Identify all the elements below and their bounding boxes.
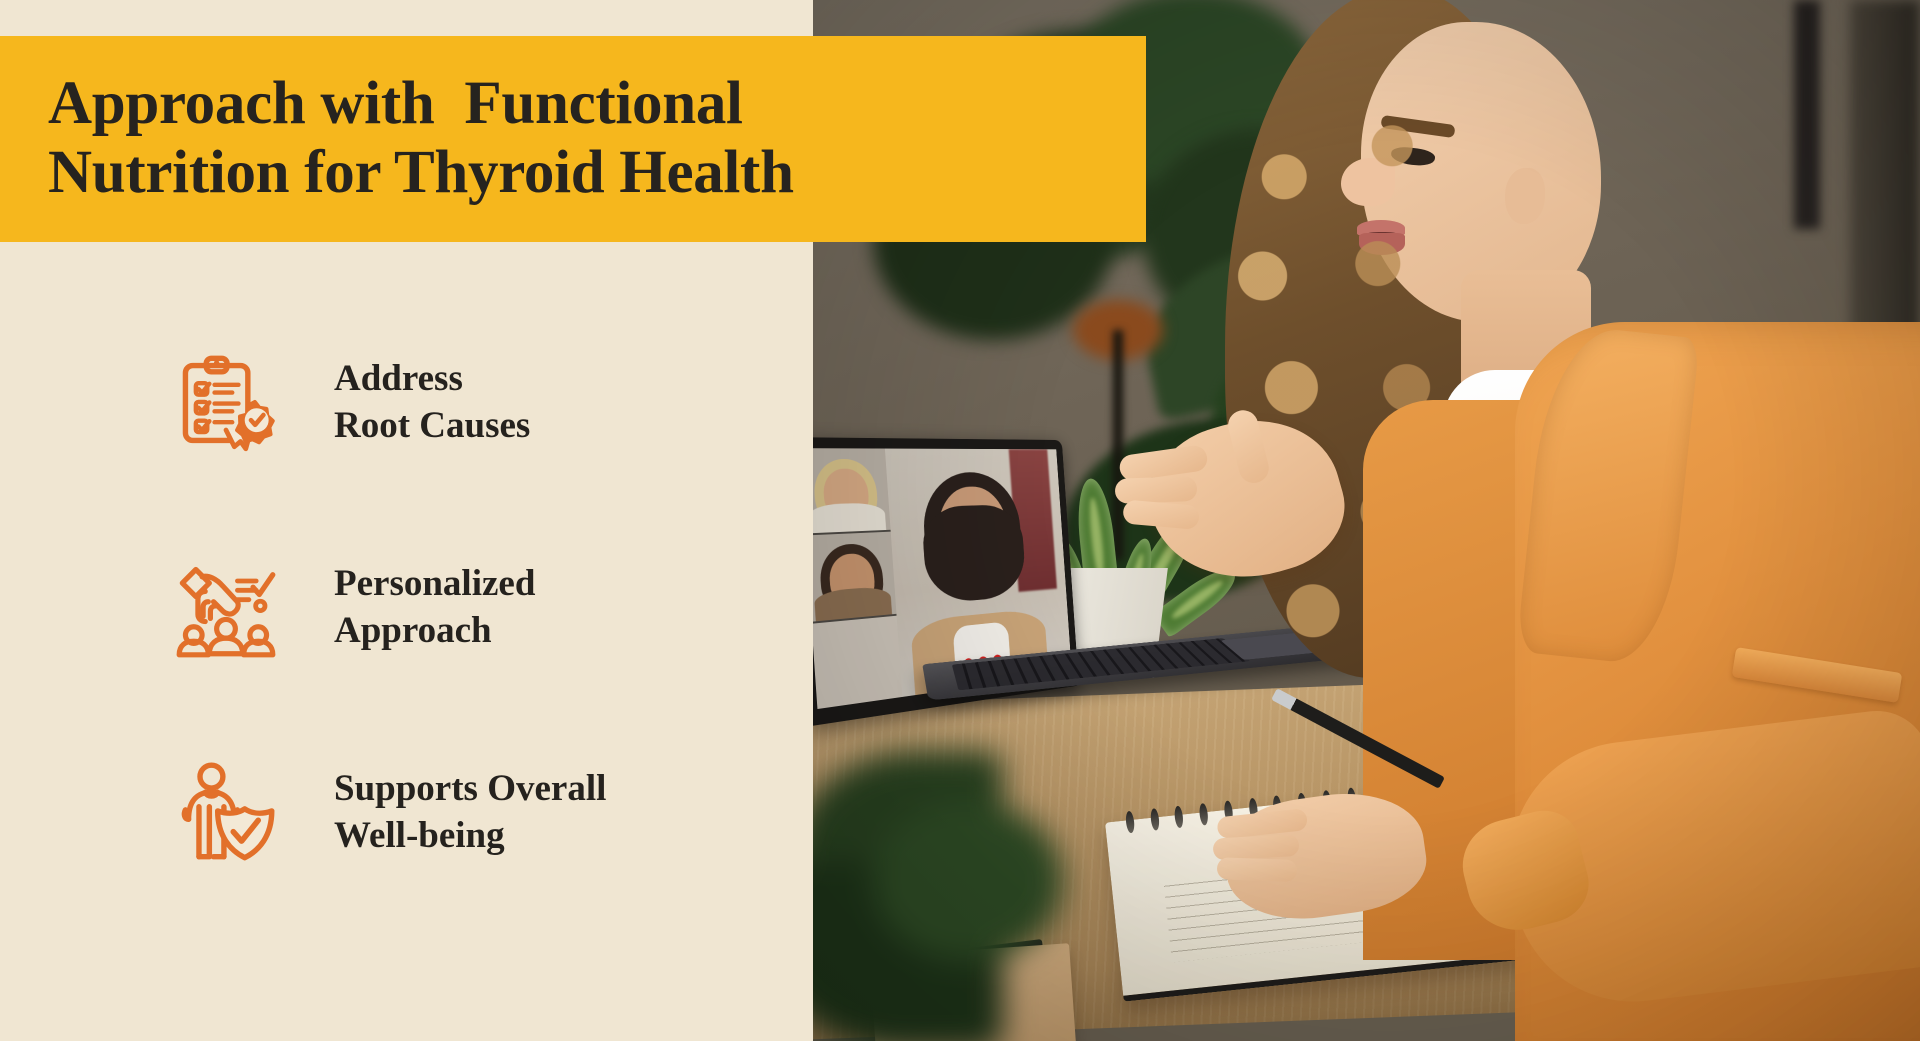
feature-label: Personalized Approach [334,561,535,655]
feature-label-line-2: Well-being [334,813,606,860]
hand-selecting-person-icon [170,552,282,664]
feature-label: Address Root Causes [334,356,530,450]
speaker-hair-side [921,504,1027,605]
feature-item-supports-overall-well-being: Supports Overall Well-being [0,710,813,915]
page-title-line-1: Approach with Functional [48,70,1146,139]
finger [1217,857,1298,882]
feature-label-line-1: Address [334,356,530,403]
feature-label-line-2: Root Causes [334,403,530,450]
feature-list: Address Root Causes [0,300,813,915]
feature-label-line-1: Supports Overall [334,766,606,813]
woman-on-video-call [1113,0,1920,1041]
feature-label: Supports Overall Well-being [334,766,606,860]
clipboard-checklist-badge-icon [170,347,282,459]
foreground-blurred-plant [813,741,1083,1041]
finger [1213,834,1300,860]
feature-item-address-root-causes: Address Root Causes [0,300,813,505]
feature-item-personalized-approach: Personalized Approach [0,505,813,710]
participant-body [814,586,893,621]
participant-tile [813,532,897,623]
infographic-canvas: Approach with Functional Nutrition for T… [0,0,1920,1041]
finger [1115,476,1198,504]
feature-label-line-2: Approach [334,608,535,655]
person-with-shield-check-icon [170,757,282,869]
participant-tile [813,615,902,709]
title-banner: Approach with Functional Nutrition for T… [0,36,1146,242]
participant-body [813,502,887,533]
participant-tile [813,448,891,536]
page-title-line-2: Nutrition for Thyroid Health [48,139,1146,208]
feature-label-line-1: Personalized [334,561,535,608]
